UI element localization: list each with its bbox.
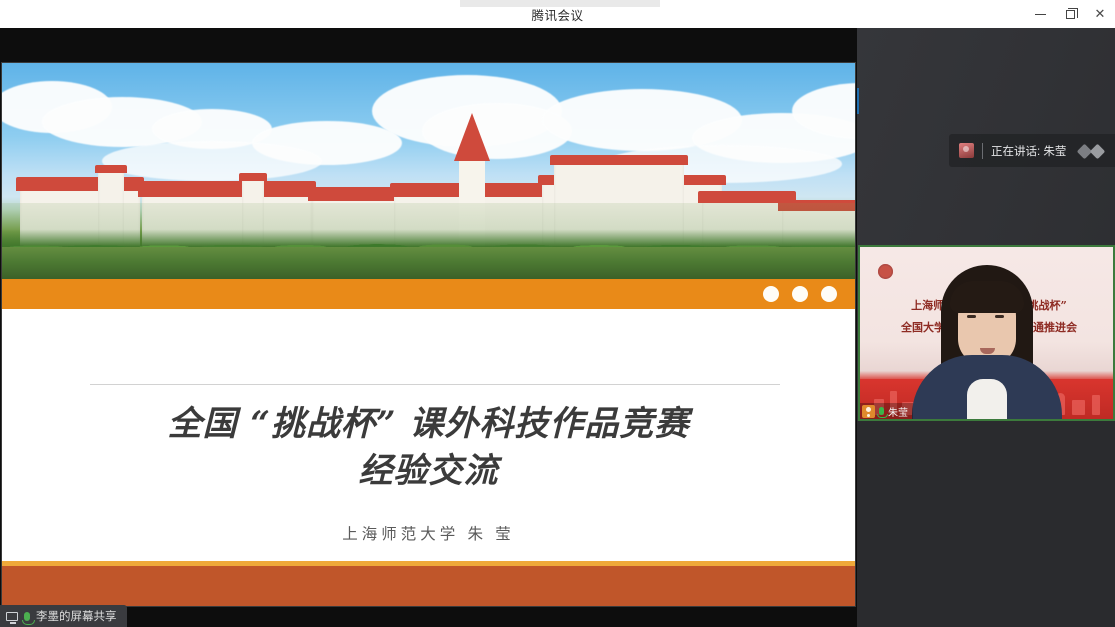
window-title: 腾讯会议 <box>531 5 583 24</box>
participant-video-tile[interactable]: 上海师范大学人文学院“挑战杯” 全国大学生课外学术科技沟通推进会 <box>858 245 1115 421</box>
slide-orange-bar <box>2 279 855 309</box>
chevron-collapse-icon[interactable] <box>1079 142 1113 160</box>
slide-decorative-dots <box>763 279 837 309</box>
participant-eye-left <box>967 315 976 318</box>
close-button[interactable]: ✕ <box>1085 0 1115 28</box>
minimize-button[interactable] <box>1025 0 1055 28</box>
slide-divider-rule <box>90 384 780 385</box>
window-controls: ✕ <box>1025 0 1115 28</box>
meeting-window-body: 全国 “挑战杯” 课外科技作品竞赛 经验交流 上海师范大学 朱 莹 李墨的屏幕共… <box>0 28 1115 627</box>
slide-banner-photo <box>2 63 855 279</box>
microphone-icon <box>24 612 30 621</box>
window-title-bar: 腾讯会议 ✕ <box>0 0 1115 28</box>
campus-buildings <box>2 137 855 247</box>
screen-share-icon <box>6 612 18 621</box>
speaker-avatar-icon <box>959 143 974 158</box>
participant-fringe <box>950 281 1024 313</box>
participant-name-badge: 朱莹 <box>860 403 913 419</box>
participant-avatar-icon <box>862 405 875 418</box>
slide-subtitle: 上海师范大学 朱 莹 <box>2 522 855 544</box>
participants-side-panel: 正在讲话: 朱莹 上海师范大学人文学院“挑战杯” 全国大学生课外学术科技沟通推进… <box>857 28 1115 627</box>
minimize-icon <box>1035 14 1046 15</box>
slide-title-line-1: 全国 “挑战杯” 课外科技作品竞赛 <box>2 401 855 448</box>
slide-title-line-2: 经验交流 <box>2 448 855 495</box>
campus-treeline <box>2 203 855 247</box>
screen-share-status: 李墨的屏幕共享 <box>0 605 127 627</box>
close-icon: ✕ <box>1095 8 1106 21</box>
presentation-slide: 全国 “挑战杯” 课外科技作品竞赛 经验交流 上海师范大学 朱 莹 <box>1 62 856 607</box>
decorative-dot <box>763 286 779 302</box>
slide-title: 全国 “挑战杯” 课外科技作品竞赛 经验交流 <box>2 401 855 495</box>
backdrop-seal-icon <box>878 264 893 279</box>
participant-eye-right <box>995 315 1004 318</box>
screen-share-label: 李墨的屏幕共享 <box>36 608 117 624</box>
participant-name-label: 朱莹 <box>888 404 908 419</box>
decorative-dot <box>821 286 837 302</box>
active-speaker-label: 正在讲话: 朱莹 <box>991 143 1066 159</box>
video-feed: 上海师范大学人文学院“挑战杯” 全国大学生课外学术科技沟通推进会 <box>860 247 1113 419</box>
maximize-icon <box>1066 10 1075 19</box>
decorative-dot <box>792 286 808 302</box>
microphone-on-icon <box>879 407 884 415</box>
slide-content: 全国 “挑战杯” 课外科技作品竞赛 经验交流 上海师范大学 朱 莹 <box>2 309 855 606</box>
slide-footer-bar <box>2 566 855 606</box>
panel-empty-area <box>857 421 1115 627</box>
maximize-button[interactable] <box>1055 0 1085 28</box>
participant-shirt <box>967 379 1007 419</box>
speaker-divider <box>982 143 983 159</box>
panel-accent-marker <box>857 88 859 114</box>
shared-screen-stage[interactable]: 全国 “挑战杯” 课外科技作品竞赛 经验交流 上海师范大学 朱 莹 李墨的屏幕共… <box>0 28 857 627</box>
